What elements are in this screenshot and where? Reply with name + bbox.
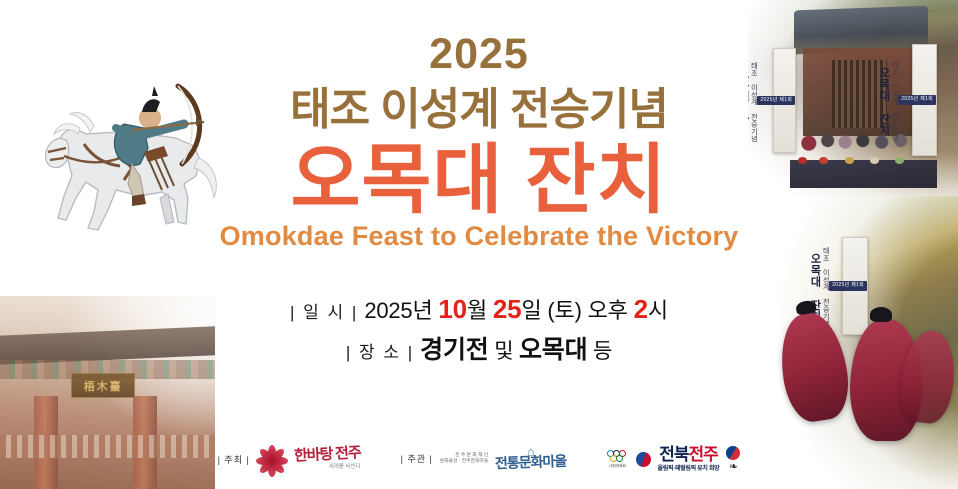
date-hour-number: 2: [634, 294, 648, 324]
date-month-number: 10: [438, 294, 467, 324]
date-day-unit: 일: [521, 298, 541, 323]
paralympic-agitos-icon: ❧: [729, 462, 738, 473]
organizer-prefix-line2: 문화융성 · 전주한옥마을: [440, 459, 488, 465]
place-label: | 장 소 |: [346, 343, 414, 362]
date-ampm: 오후: [588, 298, 628, 323]
sponsor-host: | 주최 | 한바탕 전주 세계를 비빈다: [218, 445, 361, 473]
korea-emblem-icon: [636, 452, 651, 467]
event-subtitle-korean: 태조 이성계 전승기념: [0, 86, 958, 134]
date-day-number: 25: [493, 294, 522, 324]
bid-city: 전주: [688, 445, 717, 464]
event-place-row: | 장 소 |경기전 및 오목대 등: [0, 330, 958, 371]
place-venue-primary: 경기전: [420, 336, 488, 364]
flower-logo-icon: [257, 445, 287, 473]
taegeuk-icon: [726, 446, 740, 460]
place-venue-secondary: 오목대: [519, 336, 587, 364]
organizer-role-label: | 주관 |: [401, 452, 433, 465]
sponsor-olympic-bid: 대한체육회 전북전주 올림픽·패럴림픽 유치 희망 ❧: [607, 446, 741, 473]
pavilion-plaque: 梧木臺: [71, 373, 136, 398]
place-conjunction: 및: [494, 340, 513, 363]
event-year: 2025: [0, 33, 958, 76]
sponsor-organizer: | 주관 | 전 주 문 화 재 단 문화융성 · 전주한옥마을 ⌂ 전통문화마…: [401, 447, 567, 471]
event-title-english: Omokdae Feast to Celebrate the Victory: [0, 221, 958, 252]
host-name: 한바탕 전주: [294, 446, 361, 464]
date-label: | 일 시 |: [290, 303, 358, 322]
event-date-row: | 일 시 |2025년 10월 25일 (토) 오후 2시: [0, 288, 958, 330]
date-year: 2025년: [364, 298, 432, 323]
bid-name-line2: 올림픽·패럴림픽 유치 희망: [658, 463, 720, 472]
date-hour-unit: 시: [648, 298, 668, 323]
event-details: | 일 시 |2025년 10월 25일 (토) 오후 2시 | 장 소 |경기…: [0, 288, 958, 371]
event-title-main: 오목대 잔치: [0, 142, 958, 220]
host-tagline: 세계를 비빈다: [329, 462, 361, 470]
date-weekday: (토): [547, 298, 581, 323]
sponsor-bar: | 주최 | 한바탕 전주 세계를 비빈다 | 주관 | 전 주 문 화 재 단…: [0, 445, 958, 473]
organizer-name: 전통문화마을: [495, 456, 567, 472]
bid-region: 전북: [659, 445, 688, 464]
olympic-rings-icon: [607, 450, 629, 463]
place-suffix: 등: [593, 340, 612, 363]
host-role-label: | 주최 |: [218, 453, 250, 466]
poster-text-block: 2025 태조 이성계 전승기념 오목대 잔치 Omokdae Feast to…: [0, 0, 958, 371]
event-poster: 2025년 제1회 태조 이성계 전승기념 오목대 잔치 2025년 제1회 태…: [0, 0, 958, 489]
date-month-unit: 월: [467, 298, 487, 323]
bid-name-line1: 전북전주: [659, 446, 718, 463]
